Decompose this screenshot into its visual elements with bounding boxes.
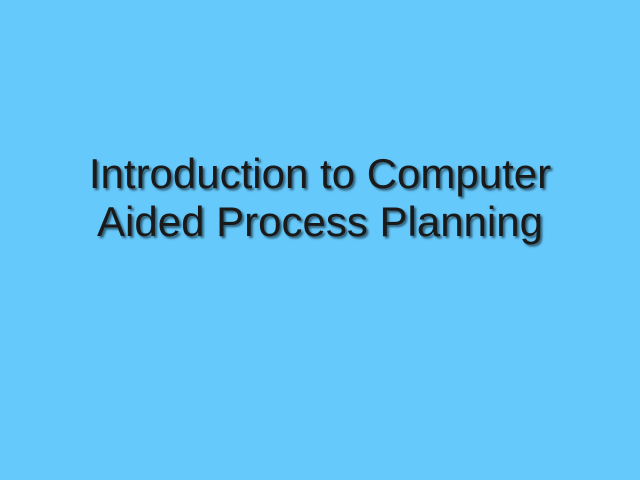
title-line-2: Aided Process Planning: [0, 198, 640, 246]
slide-title: Introduction to Computer Aided Process P…: [0, 150, 640, 246]
title-line-1: Introduction to Computer: [0, 150, 640, 198]
slide-canvas: Introduction to Computer Aided Process P…: [0, 0, 640, 480]
